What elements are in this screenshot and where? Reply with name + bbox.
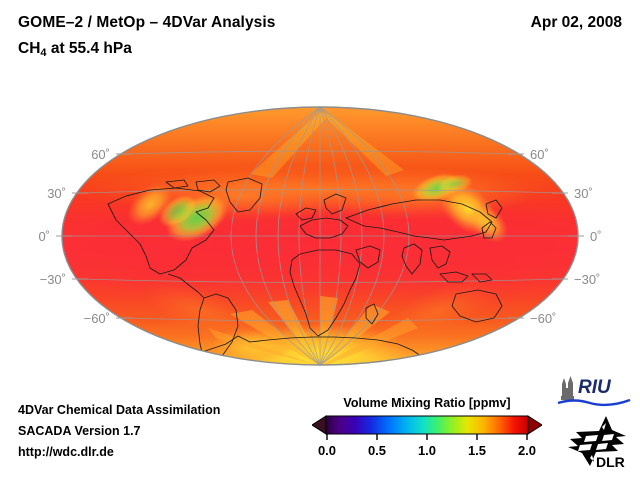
footer-line-2: SACADA Version 1.7	[18, 421, 220, 442]
riu-logo: RIU	[556, 374, 634, 408]
footer-line-1: 4DVar Chemical Data Assimilation	[18, 400, 220, 421]
colorbar-scale[interactable]: 0.0 0.5 1.0 1.5 2.0	[312, 414, 542, 460]
lat-label-60n-left: 60˚	[91, 147, 110, 162]
riu-wave-icon	[558, 400, 630, 405]
species-subscript: 4	[40, 47, 46, 59]
riu-logo-text: RIU	[578, 377, 612, 398]
lat-label-30s-right: −30˚	[574, 272, 600, 287]
lat-label-30n-right: 30˚	[574, 186, 593, 201]
riu-tower-icon	[561, 376, 574, 400]
cb-tick-2: 1.0	[418, 443, 436, 458]
colorbar-ticks	[327, 434, 527, 440]
lat-label-0-left: 0˚	[38, 229, 50, 244]
lat-label-30n-left: 30˚	[47, 186, 66, 201]
colorbar-gradient	[326, 416, 528, 434]
cb-tick-4: 2.0	[518, 443, 536, 458]
colorbar: Volume Mixing Ratio [ppmv] 0.0 0.5 1.0 1…	[312, 396, 542, 460]
lat-label-0-right: 0˚	[590, 229, 602, 244]
pressure-level-label: at 55.4 hPa	[47, 40, 132, 57]
footer-info: 4DVar Chemical Data Assimilation SACADA …	[18, 400, 220, 463]
dlr-logo-text: DLR	[596, 454, 625, 470]
footer-line-3: http://wdc.dlr.de	[18, 442, 220, 463]
map-panel: 60˚ 60˚ 30˚ 30˚ 0˚ 0˚ −30˚ −30˚ −60˚ −60…	[0, 78, 640, 374]
colorbar-arrow-right	[528, 416, 542, 434]
species-label: CH	[18, 40, 40, 57]
lat-label-60n-right: 60˚	[530, 147, 549, 162]
page-subtitle: CH4 at 55.4 hPa	[18, 40, 132, 58]
cb-tick-0: 0.0	[318, 443, 336, 458]
dlr-logo: DLR	[566, 414, 632, 470]
colorbar-title: Volume Mixing Ratio [ppmv]	[312, 396, 542, 410]
lat-label-30s-left: −30˚	[40, 272, 66, 287]
cb-tick-3: 1.5	[468, 443, 486, 458]
analysis-date: Apr 02, 2008	[531, 14, 622, 32]
colorbar-arrow-left	[312, 416, 326, 434]
lat-label-60s-left: −60˚	[84, 311, 110, 326]
colorbar-tick-labels: 0.0 0.5 1.0 1.5 2.0	[318, 443, 536, 458]
mollweide-map[interactable]: 60˚ 60˚ 30˚ 30˚ 0˚ 0˚ −30˚ −30˚ −60˚ −60…	[0, 78, 640, 374]
cb-tick-1: 0.5	[368, 443, 386, 458]
lat-label-60s-right: −60˚	[530, 311, 556, 326]
page-title: GOME–2 / MetOp – 4DVar Analysis	[18, 14, 276, 32]
map-data-field	[60, 107, 600, 374]
